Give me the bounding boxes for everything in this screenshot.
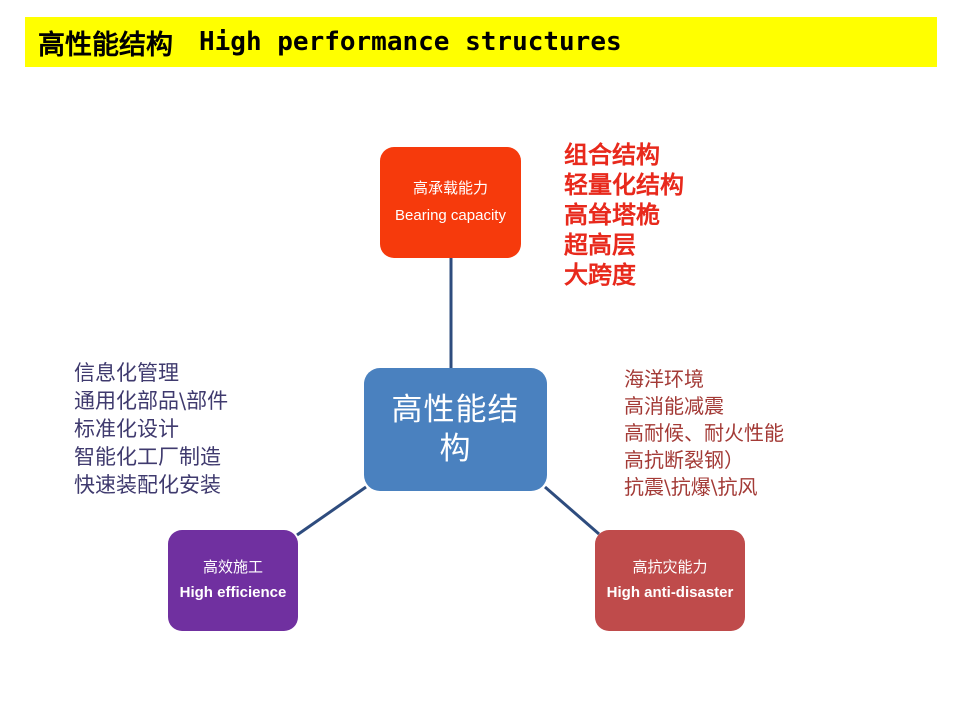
node-bearing-capacity-label-cn: 高承载能力 [413, 180, 488, 197]
connector-center-to-disaster [545, 487, 599, 534]
node-high-efficience-label-cn: 高效施工 [203, 559, 263, 576]
annotation-anti-disaster-list: 海洋环境 高消能减震 高耐候、耐火性能 高抗断裂钢） 抗震\抗爆\抗风 [624, 366, 784, 501]
annotation-bearing-capacity-list: 组合结构 轻量化结构 高耸塔桅 超高层 大跨度 [564, 140, 684, 290]
annotation-efficience-list: 信息化管理 通用化部品\部件 标准化设计 智能化工厂制造 快速装配化安装 [74, 359, 228, 499]
page-title-en: High performance structures [199, 27, 622, 57]
node-bearing-capacity-label-en: Bearing capacity [385, 207, 516, 226]
node-high-anti-disaster[interactable]: 高抗灾能力 High anti-disaster [595, 530, 745, 631]
node-high-anti-disaster-label-cn: 高抗灾能力 [632, 559, 707, 576]
node-center-high-performance-structures[interactable]: 高性能结构 [364, 368, 547, 491]
node-center-label-cn: 高性能结构 [364, 391, 547, 469]
title-banner: 高性能结构 High performance structures [25, 17, 937, 67]
page-title-cn: 高性能结构 [38, 23, 173, 62]
node-high-efficience[interactable]: 高效施工 High efficience [168, 530, 298, 631]
node-bearing-capacity[interactable]: 高承载能力 Bearing capacity [380, 147, 521, 258]
connector-center-to-efficience [297, 487, 366, 535]
node-high-efficience-label-en: High efficience [170, 584, 297, 603]
node-high-anti-disaster-label-en: High anti-disaster [597, 584, 744, 603]
